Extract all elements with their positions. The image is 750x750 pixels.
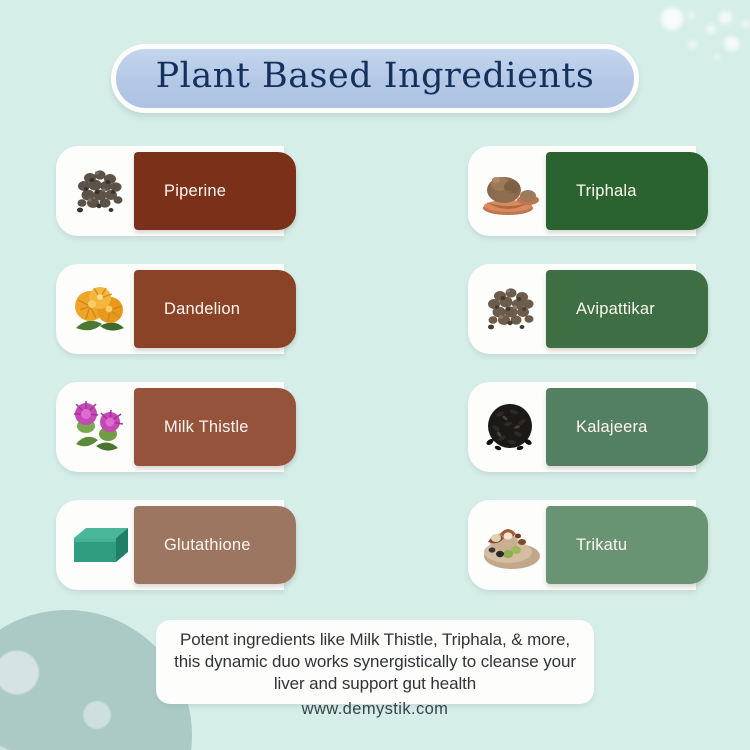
ingredient-card-glutathione[interactable]: Glutathione xyxy=(56,500,296,590)
black-peppercorns-icon xyxy=(66,158,136,224)
card-color-panel: Milk Thistle xyxy=(134,388,296,466)
card-color-panel: Triphala xyxy=(546,152,708,230)
ingredient-label: Trikatu xyxy=(546,536,627,555)
avipattikar-seeds-icon xyxy=(478,276,548,342)
ingredient-card-trikatu[interactable]: Trikatu xyxy=(468,500,708,590)
triphala-powder-bowls-icon xyxy=(478,158,548,224)
ingredient-card-piperine[interactable]: Piperine xyxy=(56,146,296,236)
card-color-panel: Glutathione xyxy=(134,506,296,584)
ingredient-label: Piperine xyxy=(134,182,226,201)
decorative-bubble xyxy=(661,8,683,30)
teal-block-icon xyxy=(66,512,136,578)
ingredient-card-milk-thistle[interactable]: Milk Thistle xyxy=(56,382,296,472)
black-cumin-seeds-icon xyxy=(478,394,548,460)
decorative-bubble xyxy=(706,24,716,34)
page-title: Plant Based Ingredients xyxy=(156,57,595,96)
card-color-panel: Kalajeera xyxy=(546,388,708,466)
decorative-bubble xyxy=(688,12,695,19)
ingredient-label: Dandelion xyxy=(134,300,240,319)
card-color-panel: Dandelion xyxy=(134,270,296,348)
ingredient-card-avipattikar[interactable]: Avipattikar xyxy=(468,264,708,354)
ingredient-label: Glutathione xyxy=(134,536,251,555)
decorative-bubble xyxy=(742,20,750,28)
ingredient-label: Kalajeera xyxy=(546,418,648,437)
header: Plant Based Ingredients xyxy=(0,44,750,113)
milk-thistle-flower-icon xyxy=(66,394,136,460)
decorative-bubble xyxy=(719,11,732,24)
ingredient-card-dandelion[interactable]: Dandelion xyxy=(56,264,296,354)
ingredient-card-kalajeera[interactable]: Kalajeera xyxy=(468,382,708,472)
ingredient-label: Avipattikar xyxy=(546,300,655,319)
ingredient-label: Triphala xyxy=(546,182,637,201)
footer-blurb-text: Potent ingredients like Milk Thistle, Tr… xyxy=(170,629,580,694)
website-url[interactable]: www.demystik.com xyxy=(0,700,750,719)
card-color-panel: Piperine xyxy=(134,152,296,230)
title-pill: Plant Based Ingredients xyxy=(111,44,640,113)
dandelion-flower-icon xyxy=(66,276,136,342)
card-color-panel: Avipattikar xyxy=(546,270,708,348)
footer-blurb-card: Potent ingredients like Milk Thistle, Tr… xyxy=(156,620,594,704)
card-color-panel: Trikatu xyxy=(546,506,708,584)
ingredient-card-triphala[interactable]: Triphala xyxy=(468,146,708,236)
trikatu-spice-mix-icon xyxy=(478,512,548,578)
ingredient-card-grid: Piperine xyxy=(56,146,708,590)
ingredient-label: Milk Thistle xyxy=(134,418,249,437)
